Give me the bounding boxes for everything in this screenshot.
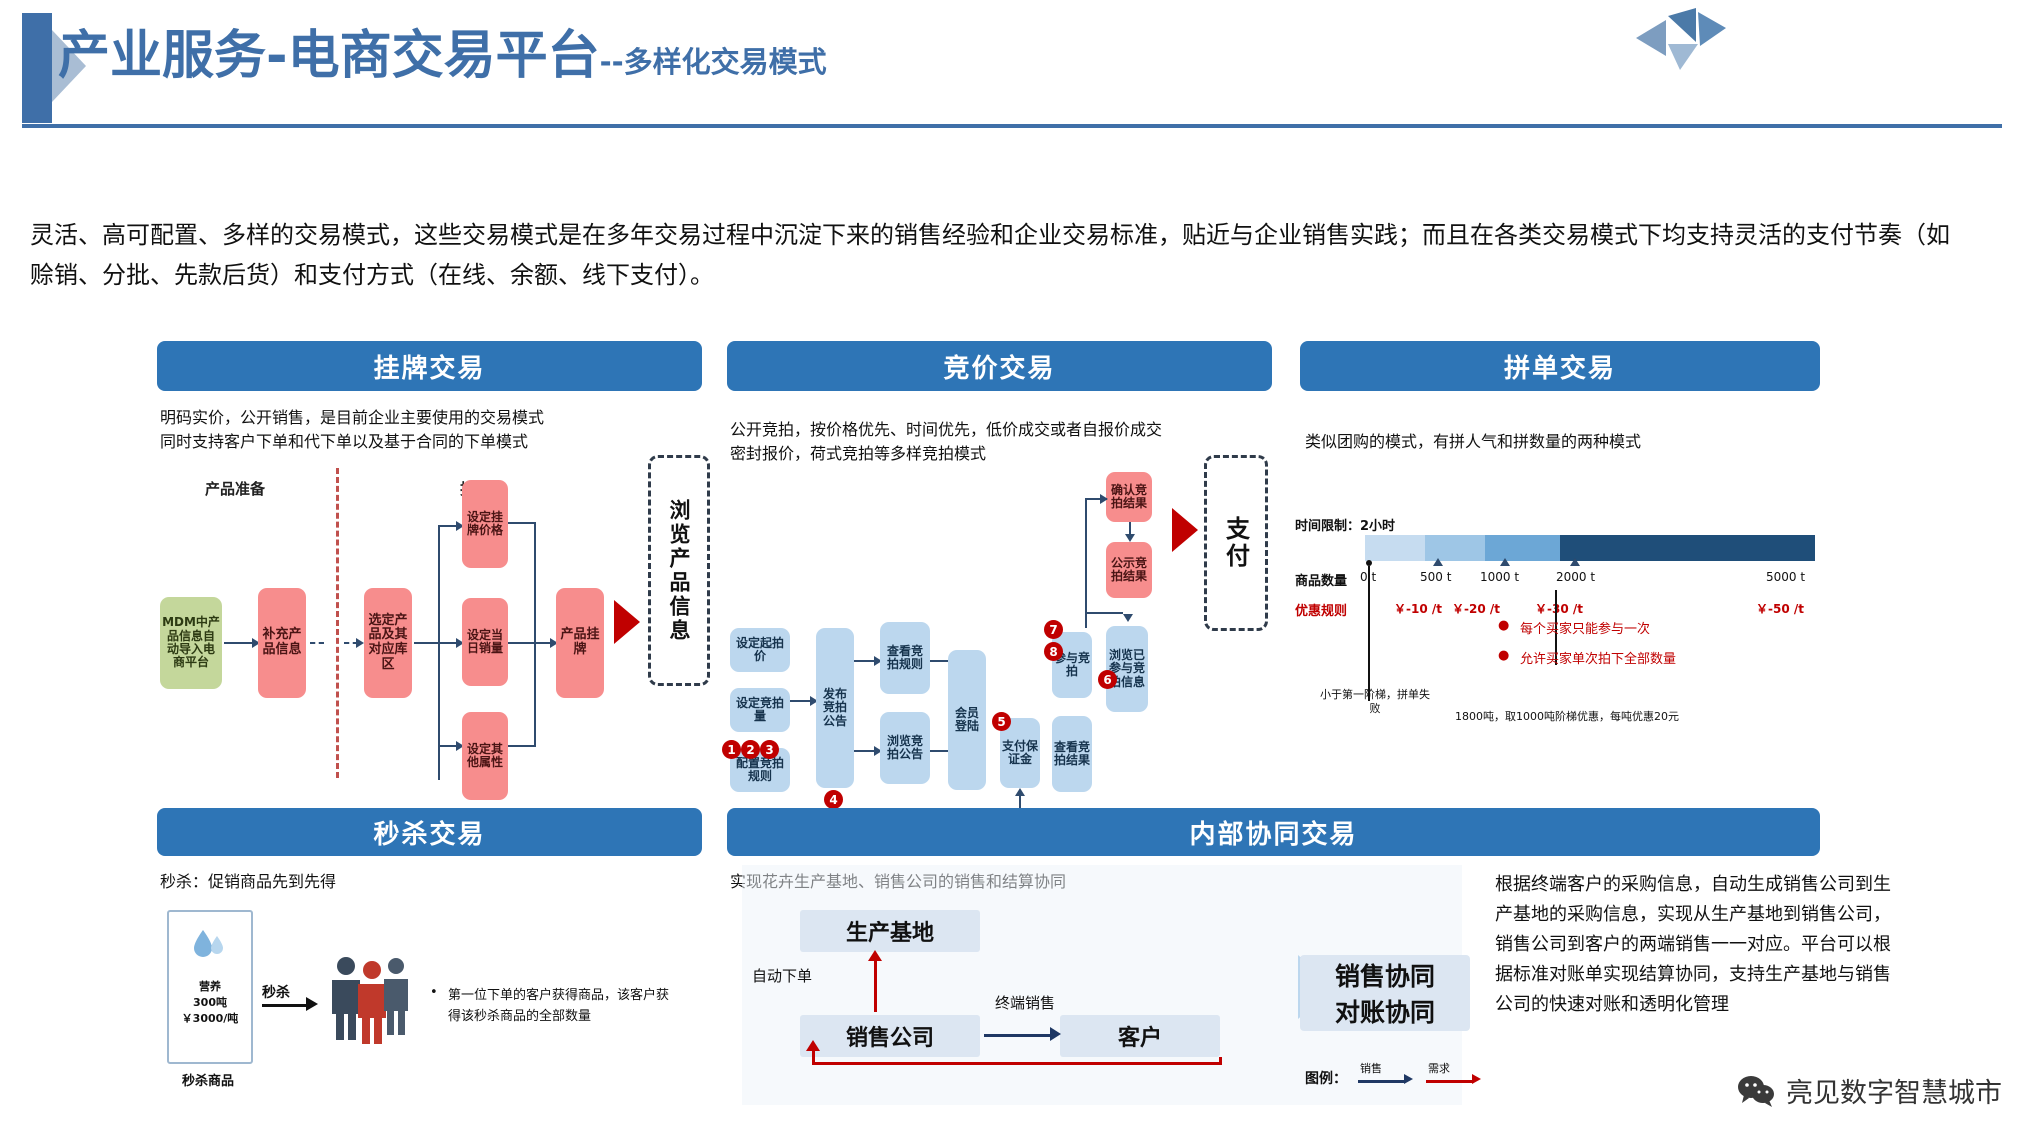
arrow-to-browsenotice: [854, 750, 876, 752]
internal-result-line1: 销售协同: [1335, 957, 1435, 993]
panel-desc-seckill: 秒杀：促销商品先到先得: [160, 870, 660, 894]
arrow-demand-loop-right-v: [1219, 1057, 1222, 1065]
flow-box-set-price[interactable]: 设定挂牌价格: [462, 480, 508, 568]
seckill-desc-line1: 秒杀：促销商品先到先得: [160, 870, 660, 894]
tier-guide-line: [1368, 566, 1370, 701]
seckill-card-line2: 300吨: [169, 994, 251, 1010]
panel-header-seckill[interactable]: 秒杀交易: [157, 808, 702, 856]
seckill-bullet-text: 第一位下单的客户获得商品，该客户获得该秒杀商品的全部数量: [448, 985, 678, 1027]
arrow-select-fan-vert: [438, 525, 440, 780]
arrow-demand-loop-h: [812, 1062, 1222, 1065]
badge-8: 8: [1044, 642, 1063, 661]
tier-price-0: ￥-10 /t: [1394, 600, 1442, 617]
legend-item-2-label: 需求: [1428, 1060, 1450, 1076]
arrow-head-demand-loop: [806, 1040, 820, 1051]
panel-header-groupbuy[interactable]: 拼单交易: [1300, 341, 1820, 391]
flow-box-publish-notice[interactable]: 发布竞拍公告: [816, 628, 854, 788]
edge-label-auto-order: 自动下单: [752, 965, 812, 986]
badge-1: 1: [722, 740, 741, 759]
intro-paragraph: 灵活、高可配置、多样的交易模式，这些交易模式是在多年交易过程中沉淀下来的销售经验…: [30, 215, 1960, 295]
header-divider: [22, 124, 2002, 128]
legend-item-2-arrow: [1472, 1074, 1481, 1084]
groupbuy-desc-line1: 类似团购的模式，有拼人气和拼数量的两种模式: [1305, 430, 1805, 454]
tier-tick-4: 5000 t: [1766, 570, 1805, 584]
seckill-card-caption: 秒杀商品: [167, 1070, 249, 1089]
internal-result-line2: 对账协同: [1335, 993, 1435, 1029]
quantity-axis-label: 商品数量: [1295, 570, 1347, 589]
bidding-desc-line2: 密封报价，荷式竞拍等多样竞拍模式: [730, 442, 1270, 466]
customers-group-icon: [322, 950, 412, 1060]
flow-box-supplement[interactable]: 补充产品信息: [258, 588, 306, 698]
flow-box-set-bid-volume[interactable]: 设定竞拍量: [730, 688, 790, 732]
tier-tick-2: 1000 t: [1480, 570, 1519, 584]
tier-price-1: ￥-20 /t: [1452, 600, 1500, 617]
arrow-to-setprice: [438, 525, 458, 527]
wechat-account-name: 亮见数字智慧城市: [1786, 1071, 2002, 1110]
groupbuy-note-left: 小于第一阶梯，拼单失败: [1320, 688, 1430, 716]
panel-desc-listing: 明码实价，公开销售，是目前企业主要使用的交易模式 同时支持客户下单和代下单以及基…: [160, 406, 680, 454]
tier-price-3: ￥-50 /t: [1756, 600, 1804, 617]
arrow-to-login-b: [930, 750, 948, 752]
seckill-arrow: [262, 1004, 310, 1007]
legend-item-2-line: [1426, 1080, 1474, 1083]
arrow-supplement-select-a: [310, 642, 324, 644]
arrow-head-base-up-red: [868, 950, 882, 961]
panel-title-bidding: 竞价交易: [943, 348, 1055, 385]
groupbuy-bullet-1: 允许买家单次拍下全部数量: [1520, 648, 1676, 667]
badge-2: 2: [741, 740, 760, 759]
badge-6: 6: [1098, 670, 1117, 689]
arrow-head-confirm-publish: [1125, 534, 1135, 542]
panel-title-groupbuy: 拼单交易: [1504, 348, 1616, 385]
outcome-label-bidding: 支付: [1219, 516, 1254, 570]
arrow-to-setvolume: [438, 642, 458, 644]
arrow-to-viewrules: [854, 660, 876, 662]
arrow-to-notice: [790, 700, 812, 702]
seckill-card-line1: 营养: [169, 978, 251, 994]
brand-logo-icon: [1636, 8, 1726, 78]
seckill-product-card[interactable]: 营养 300吨 ￥3000/吨: [167, 910, 253, 1064]
badge-3: 3: [760, 740, 779, 759]
wechat-footer: 亮见数字智慧城市: [1736, 1071, 2002, 1110]
arrow-merge-vert: [534, 522, 536, 747]
header-accent-bar: [22, 13, 52, 123]
seckill-bullet-marker: •: [430, 985, 438, 1000]
tier-segment-1: [1365, 535, 1425, 561]
droplet-icon: [191, 926, 227, 960]
seckill-arrow-head: [306, 997, 318, 1011]
badge-7: 7: [1044, 620, 1063, 639]
arrow-head-sales-customer: [1050, 1027, 1061, 1041]
flow-box-browse-notice[interactable]: 浏览竞拍公告: [880, 712, 930, 784]
arrow-merge-a: [508, 522, 536, 524]
legend-label: 图例：: [1305, 1068, 1347, 1088]
node-customer[interactable]: 客户: [1060, 1015, 1220, 1057]
arrow-to-browse-joined: [1085, 612, 1123, 614]
arrow-head-browse-joined: [1123, 614, 1133, 622]
badge-5: 5: [992, 712, 1011, 731]
arrow-mdm-supplement: [224, 642, 254, 644]
wechat-icon: [1736, 1074, 1776, 1108]
outcome-label-listing: 浏览产品信息: [664, 499, 694, 643]
groupbuy-bullet-1-marker: ●: [1498, 648, 1509, 663]
flow-box-view-result[interactable]: 查看竞拍结果: [1052, 716, 1092, 792]
seckill-action-label: 秒杀: [262, 982, 290, 1002]
panel-title-internal: 内部协同交易: [1189, 814, 1357, 851]
tier-tick-1: 500 t: [1420, 570, 1451, 584]
bidding-desc-line1: 公开竞拍，按价格优先、时间优先，低价成交或者自报价成交: [730, 418, 1270, 442]
flow-box-publish[interactable]: 产品挂牌: [556, 588, 604, 698]
flow-box-join-bid[interactable]: 参与竞拍: [1052, 632, 1092, 698]
red-arrow-listing: [614, 600, 640, 644]
listing-desc-line2: 同时支持客户下单和代下单以及基于合同的下单模式: [160, 430, 680, 454]
arrow-merge-b: [508, 642, 552, 644]
tier-marker-arrow-1: [1433, 558, 1443, 566]
panel-desc-bidding: 公开竞拍，按价格优先、时间优先，低价成交或者自报价成交 密封报价，荷式竞拍等多样…: [730, 418, 1270, 466]
groupbuy-note-mid: 1800吨，取1000吨阶梯优惠，每吨优惠20元: [1455, 710, 1705, 724]
legend-item-1-label: 销售: [1360, 1060, 1382, 1076]
page-title: 产业服务-电商交易平台 --多样化交易模式: [58, 30, 827, 82]
flow-box-confirm-result[interactable]: 确认竞拍结果: [1106, 472, 1152, 522]
arrow-to-setother: [438, 745, 458, 747]
node-production-base[interactable]: 生产基地: [800, 910, 980, 952]
arrow-to-login-a: [930, 660, 948, 662]
arrow-result-branch-v: [1085, 498, 1087, 628]
seckill-card-line3: ￥3000/吨: [169, 1010, 251, 1026]
discount-rule-label: 优惠规则: [1295, 600, 1347, 619]
node-sales-company[interactable]: 销售公司: [800, 1015, 980, 1057]
arrow-sales-customer: [984, 1034, 1054, 1037]
panel-desc-groupbuy: 类似团购的模式，有拼人气和拼数量的两种模式: [1305, 430, 1805, 454]
panel-header-listing[interactable]: 挂牌交易: [157, 341, 702, 391]
stage-label-product-prep: 产品准备: [205, 478, 265, 499]
panel-title-listing: 挂牌交易: [373, 348, 485, 385]
red-arrow-bidding: [1172, 508, 1198, 552]
tier-marker-arrow-2: [1500, 558, 1510, 566]
arrow-head-result-branch: [1100, 494, 1108, 504]
internal-result-box[interactable]: 销售协同 对账协同: [1300, 955, 1470, 1031]
flow-box-set-start-price[interactable]: 设定起拍价: [730, 628, 790, 672]
time-limit-label: 时间限制：2小时: [1295, 515, 1395, 534]
arrow-merge-c: [508, 745, 536, 747]
panel-header-internal[interactable]: 内部协同交易: [727, 808, 1820, 856]
arrow-head-supplement-select: [356, 638, 364, 648]
panel-title-seckill: 秒杀交易: [373, 814, 485, 851]
tier-segment-3: [1485, 535, 1560, 561]
tier-price-2: ￥-30 /t: [1535, 600, 1583, 617]
panel-header-bidding[interactable]: 竞价交易: [727, 341, 1272, 391]
legend-item-1-line: [1358, 1080, 1406, 1083]
listing-desc-line1: 明码实价，公开销售，是目前企业主要使用的交易模式: [160, 406, 680, 430]
arrow-select-fan: [414, 642, 440, 644]
badge-4: 4: [824, 790, 843, 809]
stage-divider-dashed: [336, 468, 339, 778]
edge-label-end-sales: 终端销售: [995, 992, 1055, 1013]
internal-right-text: 根据终端客户的采购信息，自动生成销售公司到生产基地的采购信息，实现从生产基地到销…: [1495, 870, 1895, 1020]
tier-tick-3: 2000 t: [1556, 570, 1595, 584]
flow-box-select-product[interactable]: 选定产品及其对应库区: [364, 588, 412, 698]
flow-box-member-login[interactable]: 会员登陆: [948, 650, 986, 790]
groupbuy-bullet-0: 每个买家只能参与一次: [1520, 618, 1650, 637]
tier-marker-arrow-3: [1570, 558, 1580, 566]
flow-box-set-other[interactable]: 设定其他属性: [462, 712, 508, 800]
tier-segment-4: [1560, 535, 1815, 561]
flow-box-publish-result[interactable]: 公示竞拍结果: [1106, 542, 1152, 598]
outcome-box-bidding[interactable]: 支付: [1204, 455, 1268, 631]
flow-box-mdm[interactable]: MDM中产品信息自动导入电商平台: [160, 597, 222, 689]
legend-item-1-arrow: [1404, 1074, 1413, 1084]
page-title-sub: --多样化交易模式: [600, 48, 827, 82]
flow-box-set-volume[interactable]: 设定当日销量: [462, 598, 508, 686]
arrow-base-up-red: [874, 956, 877, 1012]
page-title-main: 产业服务-电商交易平台: [58, 30, 600, 82]
groupbuy-bullet-0-marker: ●: [1498, 618, 1509, 633]
outcome-box-listing[interactable]: 浏览产品信息: [648, 455, 710, 686]
arrow-head-deposit-up: [1015, 788, 1025, 796]
flow-box-browse-joined[interactable]: 浏览已参与竞拍信息: [1106, 626, 1148, 712]
flow-box-view-rules[interactable]: 查看竞拍规则: [880, 622, 930, 694]
